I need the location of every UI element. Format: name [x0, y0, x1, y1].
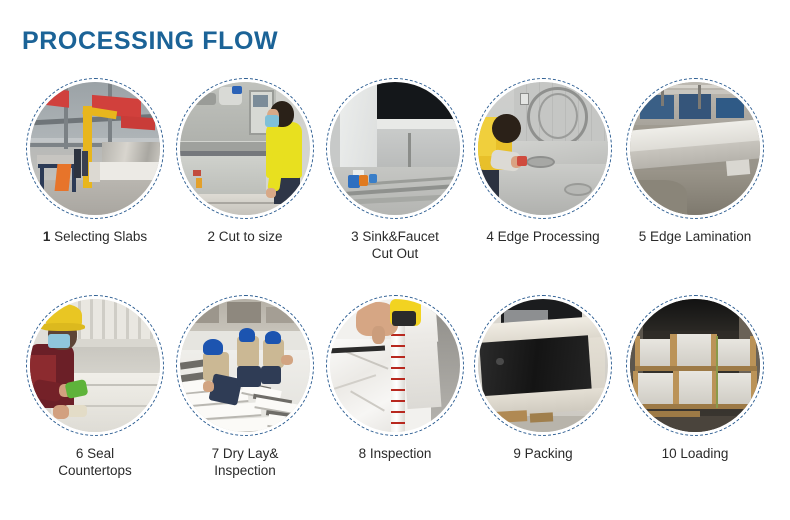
step-number-2: 2 [207, 229, 215, 244]
step-label-5: 5 Edge Lamination [620, 228, 770, 245]
step-label-10: 10 Loading [620, 445, 770, 462]
step-photo-ring-5 [626, 78, 764, 219]
step-text-6-line1: 6 Seal [20, 445, 170, 462]
step-photo-ring-8 [326, 295, 464, 436]
step-label-4: 4 Edge Processing [468, 228, 618, 245]
step-text-8: 8 Inspection [359, 446, 432, 461]
step-image-seal-countertops [30, 299, 160, 432]
step-photo-ring-1 [26, 78, 164, 219]
flow-step-2[interactable]: 2 Cut to size [170, 78, 320, 245]
step-photo-ring-2 [176, 78, 314, 219]
step-text-6-line2: Countertops [20, 462, 170, 479]
flow-step-3[interactable]: 3 Sink&Faucet Cut Out [320, 78, 470, 262]
step-photo-ring-10 [626, 295, 764, 436]
page-title: PROCESSING FLOW [22, 27, 278, 56]
step-label-9: 9 Packing [468, 445, 618, 462]
processing-flow-page: PROCESSING FLOW 1 Selecting Slabs [0, 0, 790, 520]
flow-step-6[interactable]: 6 Seal Countertops [20, 295, 170, 479]
step-text-9: 9 Packing [513, 446, 572, 461]
step-photo-ring-9 [474, 295, 612, 436]
flow-step-7[interactable]: 7 Dry Lay& Inspection [170, 295, 320, 479]
step-text-2: Cut to size [219, 229, 283, 244]
step-image-edge-lamination [630, 82, 760, 215]
step-image-cut-to-size [180, 82, 310, 215]
step-photo-ring-3 [326, 78, 464, 219]
step-text-4: 4 Edge Processing [486, 229, 599, 244]
flow-step-4[interactable]: 4 Edge Processing [468, 78, 618, 245]
step-image-selecting-slabs [30, 82, 160, 215]
step-text-3-line2: Cut Out [320, 245, 470, 262]
flow-step-9[interactable]: 9 Packing [468, 295, 618, 462]
step-label-3: 3 Sink&Faucet Cut Out [320, 228, 470, 262]
step-label-8: 8 Inspection [320, 445, 470, 462]
step-image-dry-lay-inspection [180, 299, 310, 432]
step-text-5: 5 Edge Lamination [639, 229, 752, 244]
step-text-7-line2: Inspection [170, 462, 320, 479]
step-text-10: 10 Loading [662, 446, 729, 461]
step-image-sink-faucet-cut-out [330, 82, 460, 215]
flow-step-1[interactable]: 1 Selecting Slabs [20, 78, 170, 245]
step-label-7: 7 Dry Lay& Inspection [170, 445, 320, 479]
step-image-packing [478, 299, 608, 432]
step-number-1: 1 [43, 229, 51, 244]
flow-step-10[interactable]: 10 Loading [620, 295, 770, 462]
step-image-loading [630, 299, 760, 432]
step-text-7-line1: 7 Dry Lay& [170, 445, 320, 462]
step-label-1: 1 Selecting Slabs [20, 228, 170, 245]
flow-step-8[interactable]: 8 Inspection [320, 295, 470, 462]
step-label-6: 6 Seal Countertops [20, 445, 170, 479]
step-text-3-line1: 3 Sink&Faucet [320, 228, 470, 245]
step-image-edge-processing [478, 82, 608, 215]
flow-row-1: 1 Selecting Slabs 2 Cut to size [0, 78, 790, 293]
step-photo-ring-7 [176, 295, 314, 436]
flow-step-5[interactable]: 5 Edge Lamination [620, 78, 770, 245]
step-photo-ring-4 [474, 78, 612, 219]
step-image-inspection [330, 299, 460, 432]
step-label-2: 2 Cut to size [170, 228, 320, 245]
step-photo-ring-6 [26, 295, 164, 436]
step-text-1: Selecting Slabs [54, 229, 147, 244]
flow-row-2: 6 Seal Countertops [0, 295, 790, 510]
